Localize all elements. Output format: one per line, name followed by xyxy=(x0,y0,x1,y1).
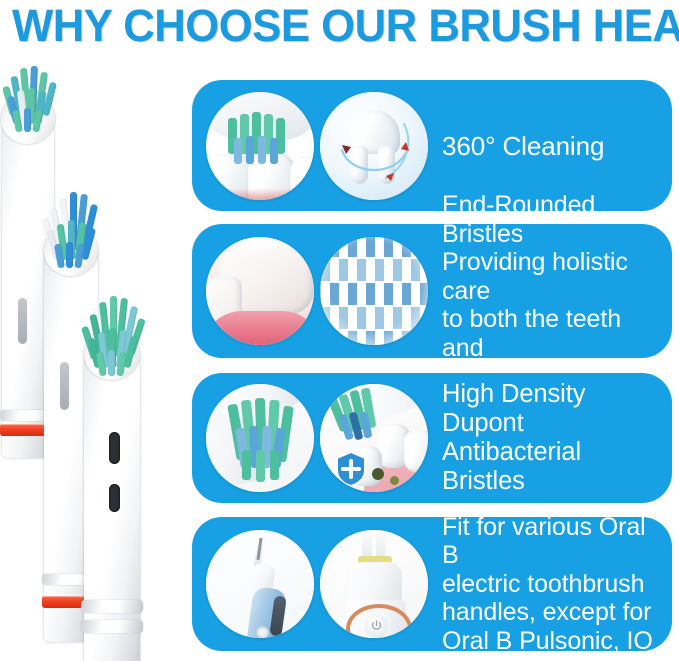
feature-1-thumbnails xyxy=(192,92,428,200)
brush-3-ring-step-2 xyxy=(81,620,143,633)
rotation-arrows-icon xyxy=(320,92,428,200)
antibacterial-shield-icon xyxy=(334,450,368,488)
tooth-and-gum-photo xyxy=(206,237,314,345)
antibacterial-teeth-shield-photo xyxy=(320,384,428,492)
brush-2-grip xyxy=(60,362,69,410)
feature-panel-high-density-dupont: High Density Dupont Antibacterial Bristl… xyxy=(192,373,672,503)
brush-3-ring-step-1 xyxy=(81,600,143,613)
feature-2-text: End-Rounded Bristles Providing holistic … xyxy=(428,191,672,391)
feature-4-thumbnails xyxy=(192,530,428,638)
feature-3-thumbnails xyxy=(192,384,428,492)
page-title: WHY CHOOSE OUR BRUSH HEAD xyxy=(12,2,652,50)
feature-panel-fit-oral-b-handles: Fit for various Oral B electric toothbru… xyxy=(192,517,672,651)
feature-panel-end-rounded-bristles: End-Rounded Bristles Providing holistic … xyxy=(192,224,672,358)
brush-1-grip xyxy=(18,298,27,344)
product-image xyxy=(0,52,192,661)
power-button-icon xyxy=(371,620,382,632)
feature-2-thumbnails xyxy=(192,237,428,345)
blue-electric-toothbrush-handle-photo xyxy=(206,530,314,638)
white-handle-copper-ring-photo xyxy=(320,530,428,638)
brush-head-3 xyxy=(84,280,140,661)
feature-1-text: 360° Cleaning xyxy=(428,132,672,160)
rounded-bristle-tips-photo xyxy=(320,237,428,345)
feature-3-text: High Density Dupont Antibacterial Bristl… xyxy=(428,380,672,496)
brush-head-on-teeth-photo xyxy=(206,92,314,200)
brush-3-slot-lower xyxy=(109,484,120,512)
brush-3-slot-upper xyxy=(109,432,120,464)
tooth-360-rotation-photo xyxy=(320,92,428,200)
dense-bristle-tuft-photo xyxy=(206,384,314,492)
feature-4-text: Fit for various Oral B electric toothbru… xyxy=(428,513,672,656)
